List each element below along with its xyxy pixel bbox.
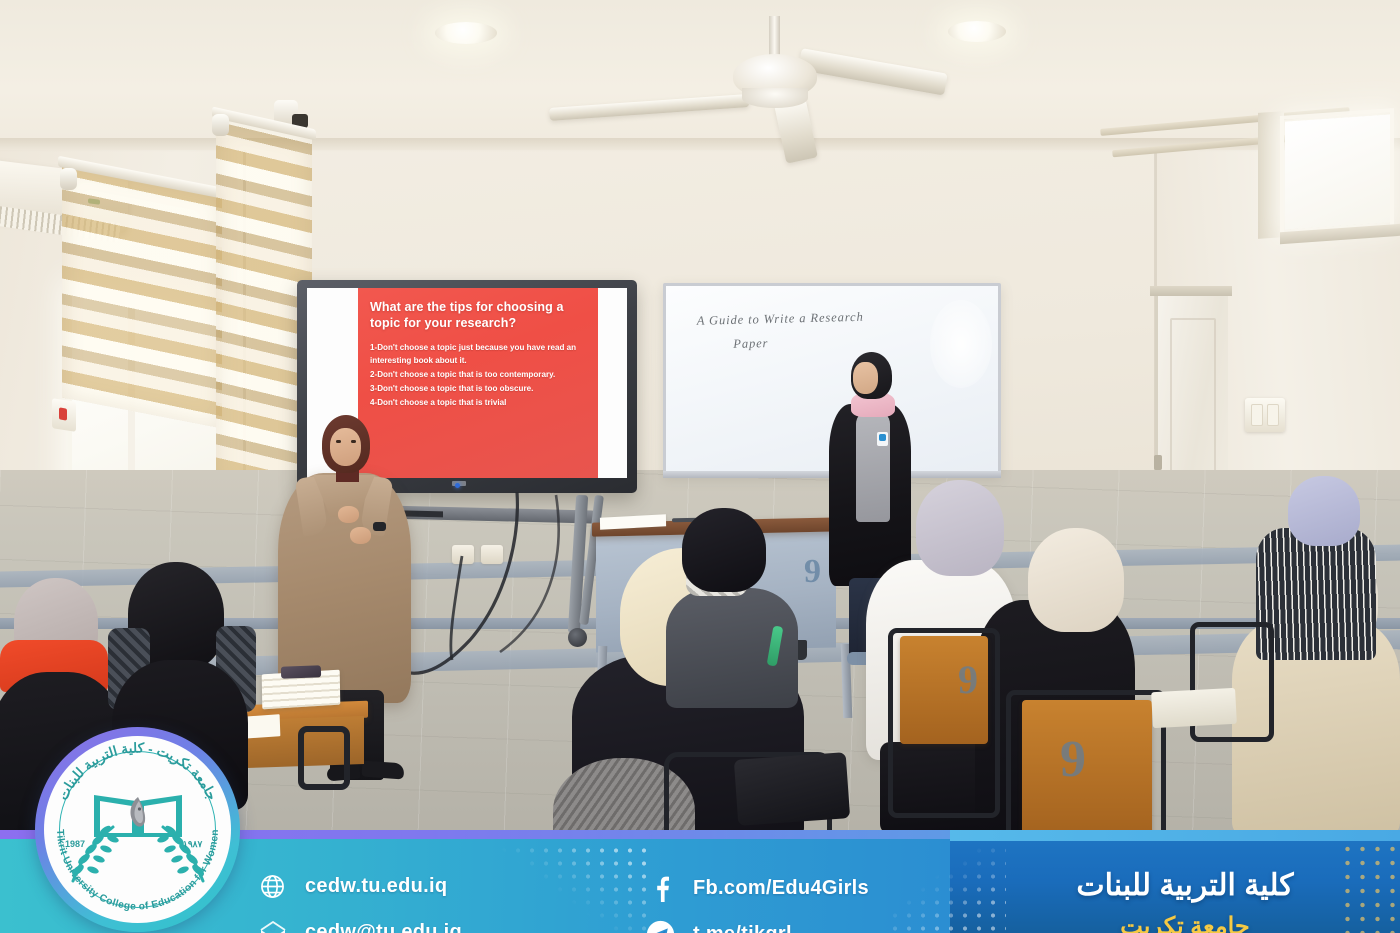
stack-of-books <box>1151 688 1237 728</box>
student-coat <box>1256 528 1376 660</box>
logo-year-latin: 1987 <box>65 839 85 849</box>
contact-email[interactable]: @ cedw@tu.edu.iq <box>258 918 462 933</box>
logo-year-arabic: ١٩٨٧ <box>183 839 202 850</box>
classroom-photo: A Guide to Write a Research Paper What a… <box>0 0 1400 830</box>
instructor-face <box>330 428 361 466</box>
chair-frame <box>1006 690 1166 830</box>
name-badge-emblem <box>879 434 886 441</box>
telegram-icon <box>646 920 675 933</box>
photo-stage: A Guide to Write a Research Paper What a… <box>0 0 1400 933</box>
chair-frame <box>888 628 1000 818</box>
eye <box>351 440 356 443</box>
envelope-icon: @ <box>258 918 287 933</box>
dot-pattern <box>888 844 1006 932</box>
laurel-branch-right-icon <box>155 819 221 889</box>
svg-text:@: @ <box>269 923 276 932</box>
contact-telegram[interactable]: t.me/tikgrl <box>646 920 792 933</box>
facebook-icon <box>646 874 675 903</box>
student-hijab <box>1288 476 1360 546</box>
banner-top-strip <box>950 830 1400 841</box>
university-logo: جامعة تكريت - كلية التربية للبنات Tikrit… <box>35 727 240 932</box>
website-text: cedw.tu.edu.iq <box>305 875 447 898</box>
globe-icon <box>258 872 287 901</box>
instructor-shoe <box>361 761 404 780</box>
backpack <box>734 752 850 826</box>
laurel-branch-left-icon <box>55 819 121 889</box>
instructor-hand <box>338 506 359 523</box>
student-hijab <box>682 508 766 592</box>
email-text: cedw@tu.edu.iq <box>305 921 462 933</box>
university-name-arabic: جامعة تكريت <box>1020 912 1350 933</box>
wristwatch <box>373 522 386 531</box>
college-name-arabic: كلية التربية للبنات <box>1020 868 1350 903</box>
student-hijab <box>916 480 1004 576</box>
dot-pattern <box>497 844 647 932</box>
mobile-phone <box>281 665 321 678</box>
presenter-top <box>856 410 890 522</box>
contact-website[interactable]: cedw.tu.edu.iq <box>258 872 447 901</box>
facebook-text: Fb.com/Edu4Girls <box>693 877 869 900</box>
contact-facebook[interactable]: Fb.com/Edu4Girls <box>646 874 869 903</box>
student-hijab <box>1028 528 1124 632</box>
eye <box>336 440 341 443</box>
presenter-face <box>853 362 878 394</box>
instructor-hand <box>350 527 371 544</box>
telegram-text: t.me/tikgrl <box>693 923 792 933</box>
chair-frame <box>298 726 350 790</box>
